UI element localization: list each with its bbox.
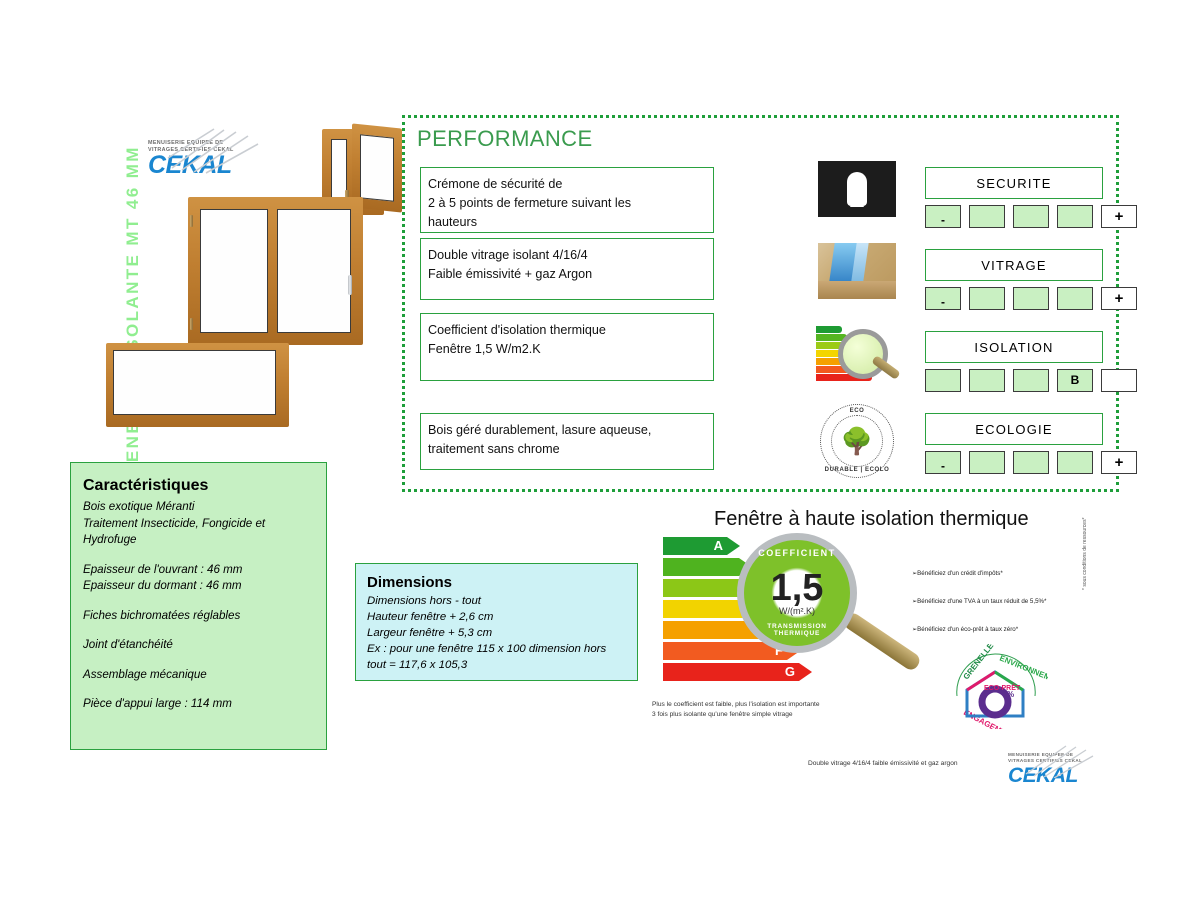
energy-caption-line2: 3 fois plus isolante qu'une fenêtre simp…	[652, 710, 912, 720]
performance-item-1-line1: Double vitrage isolant 4/16/4	[428, 246, 713, 265]
svg-text:ENVIRONNEMENT: ENVIRONNEMENT	[998, 654, 1048, 689]
benefits-list: ➢Bénéficiez d'un crédit d'impôts* ➢Bénéf…	[912, 570, 1092, 654]
svg-text:%: %	[1007, 690, 1014, 699]
dimensions-line: Dimensions hors - tout	[367, 593, 626, 609]
rating-label-securite: SECURITE	[925, 167, 1103, 199]
energy-rating-chart: A F G COEFFICIENT 1,5 W/(m².K) TRANSMISS…	[663, 537, 893, 702]
rating-cell[interactable]	[1057, 451, 1093, 474]
energy-label-icon	[816, 325, 898, 385]
performance-item-2-line2: Fenêtre 1,5 W/m2.K	[428, 340, 713, 359]
rating-cells-securite: - +	[925, 205, 1137, 228]
benefit-item: ➢Bénéficiez d'une TVA à un taux réduit d…	[912, 598, 1092, 605]
thermal-title: Fenêtre à haute isolation thermique	[714, 508, 1029, 531]
glazing-icon	[818, 243, 896, 299]
svg-text:ECO-PRÊT: ECO-PRÊT	[984, 683, 1021, 692]
rating-cell[interactable]	[969, 369, 1005, 392]
rating-label-ecologie: ECOLOGIE	[925, 413, 1103, 445]
rating-cell-b[interactable]: B	[1057, 369, 1093, 392]
caracteristiques-line: Fiches bichromatées réglables	[83, 608, 314, 625]
performance-item-0-line1: Crémone de sécurité de	[428, 175, 713, 194]
performance-item-2: Coefficient d'isolation thermique Fenêtr…	[420, 313, 714, 381]
rating-cell[interactable]: -	[925, 451, 961, 474]
keyhole-icon	[818, 161, 896, 217]
dimensions-title: Dimensions	[367, 574, 626, 591]
performance-item-1-line2: Faible émissivité + gaz Argon	[428, 265, 713, 284]
rating-cell[interactable]	[925, 369, 961, 392]
glazing-footnote: Double vitrage 4/16/4 faible émissivité …	[808, 760, 958, 767]
energy-bar-g: G	[663, 663, 799, 681]
energy-caption: Plus le coefficient est faible, plus l'i…	[652, 700, 912, 720]
performance-title: PERFORMANCE	[417, 126, 593, 152]
rating-cell[interactable]: +	[1101, 287, 1137, 310]
rating-cells-vitrage: - +	[925, 287, 1137, 310]
caracteristiques-line: Traitement Insecticide, Fongicide et	[83, 516, 314, 533]
performance-item-3-line2: traitement sans chrome	[428, 440, 713, 459]
grenelle-environnement-logo: GRENELLE ENVIRONNEMENT ENGAGEMENTS ECO-P…	[943, 644, 1048, 729]
energy-bar-a: A	[663, 537, 727, 555]
rating-cell[interactable]	[1013, 451, 1049, 474]
dimensions-line: tout = 117,6 x 105,3	[367, 657, 626, 673]
caracteristiques-line: Epaisseur de l'ouvrant : 46 mm	[83, 562, 314, 579]
coefficient-magnifier: COEFFICIENT 1,5 W/(m².K) TRANSMISSION TH…	[737, 533, 857, 653]
caracteristiques-line: Joint d'étanchéité	[83, 637, 314, 654]
caracteristiques-line: Epaisseur du dormant : 46 mm	[83, 578, 314, 595]
benefits-footnote: * sous conditions de ressources*	[1082, 517, 1088, 590]
rating-cells-ecologie: - +	[925, 451, 1137, 474]
svg-text:ENGAGEMENTS: ENGAGEMENTS	[962, 708, 1022, 729]
rating-cell[interactable]: +	[1101, 205, 1137, 228]
dimensions-line: Ex : pour une fenêtre 115 x 100 dimensio…	[367, 641, 626, 657]
performance-item-0: Crémone de sécurité de 2 à 5 points de f…	[420, 167, 714, 233]
caracteristiques-title: Caractéristiques	[83, 477, 314, 495]
rating-cell[interactable]: +	[1101, 451, 1137, 474]
eco-seal-icon: 🌳 ECO DURABLE | ECOLO	[820, 404, 894, 478]
rating-cell[interactable]: -	[925, 205, 961, 228]
energy-caption-line1: Plus le coefficient est faible, plus l'i…	[652, 700, 912, 710]
performance-item-2-line1: Coefficient d'isolation thermique	[428, 321, 713, 340]
window-handle-icon	[348, 275, 352, 295]
grenelle-logo-icon: GRENELLE ENVIRONNEMENT ENGAGEMENTS ECO-P…	[943, 644, 1048, 729]
cekal-rays-icon	[1022, 744, 1096, 778]
magnifier-handle-icon	[842, 610, 923, 672]
benefit-item: ➢Bénéficiez d'un crédit d'impôts*	[912, 570, 1092, 577]
caracteristiques-line: Hydrofuge	[83, 532, 314, 549]
performance-item-0-line2: 2 à 5 points de fermeture suivant les	[428, 194, 713, 213]
poster-page: FENETRES ISOLANTE MT 46 MM MENUISERIE EQ…	[0, 0, 1202, 901]
rating-cell[interactable]	[1101, 369, 1137, 392]
rating-cell[interactable]	[969, 451, 1005, 474]
performance-item-3: Bois géré durablement, lasure aqueuse, t…	[420, 413, 714, 470]
caracteristiques-line: Pièce d'appui large : 114 mm	[83, 696, 314, 713]
rating-cell[interactable]	[1013, 369, 1049, 392]
coefficient-value: 1,5	[771, 570, 824, 606]
dimensions-line: Largeur fenêtre + 5,3 cm	[367, 625, 626, 641]
performance-item-3-line1: Bois géré durablement, lasure aqueuse,	[428, 421, 713, 440]
rating-cell[interactable]	[1013, 205, 1049, 228]
magnifier-bottom-text: TRANSMISSION THERMIQUE	[744, 623, 850, 637]
performance-item-1: Double vitrage isolant 4/16/4 Faible émi…	[420, 238, 714, 300]
rating-cells-isolation: B	[925, 369, 1137, 392]
performance-item-0-line3: hauteurs	[428, 213, 713, 232]
rating-cell[interactable]	[1057, 287, 1093, 310]
rating-cell[interactable]	[1057, 205, 1093, 228]
magnifier-top-text: COEFFICIENT	[744, 548, 850, 558]
rating-label-vitrage: VITRAGE	[925, 249, 1103, 281]
energy-bar-b	[663, 558, 739, 576]
rating-label-isolation: ISOLATION	[925, 331, 1103, 363]
energy-bar-label-a: A	[714, 538, 723, 553]
caracteristiques-line: Assemblage mécanique	[83, 667, 314, 684]
dimensions-box: Dimensions Dimensions hors - tout Hauteu…	[355, 563, 638, 681]
caracteristiques-line: Bois exotique Méranti	[83, 499, 314, 516]
dimensions-line: Hauteur fenêtre + 2,6 cm	[367, 609, 626, 625]
rating-cell[interactable]: -	[925, 287, 961, 310]
rating-cell[interactable]	[969, 205, 1005, 228]
cekal-logo-bottom: MENUISERIE EQUIPEE DE VITRAGES CERTIFIES…	[1008, 752, 1082, 788]
rating-cell[interactable]	[969, 287, 1005, 310]
energy-bar-label-g: G	[785, 664, 795, 679]
rating-cell[interactable]	[1013, 287, 1049, 310]
cekal-logo-top: MENUISERIE EQUIPEE DE VITRAGES CERTIFIES…	[148, 140, 234, 178]
caracteristiques-box: Caractéristiques Bois exotique Méranti T…	[70, 462, 327, 750]
benefit-item: ➢Bénéficiez d'un éco-prêt à taux zéro*	[912, 626, 1092, 633]
coefficient-unit: W/(m².K)	[779, 606, 815, 616]
cekal-rays-icon	[166, 128, 262, 174]
